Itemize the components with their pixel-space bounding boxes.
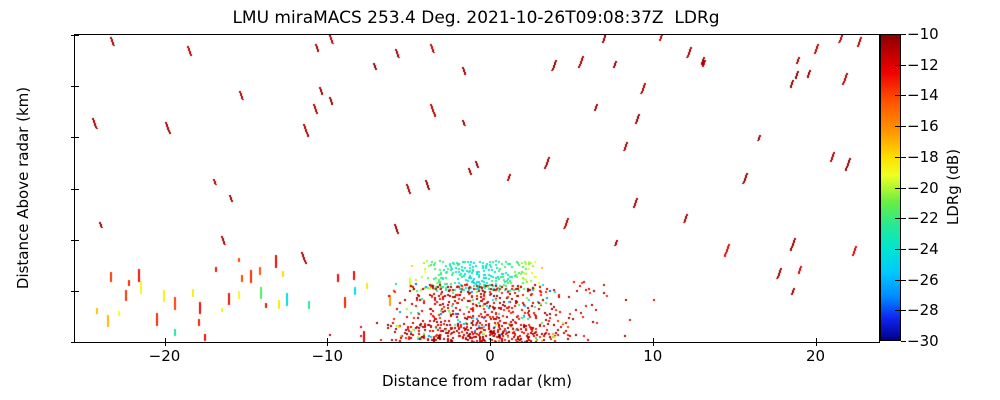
colorbar-tick-mark-inner: [895, 218, 900, 219]
colorbar-tick-mark-inner: [895, 188, 900, 189]
x-axis-label: Distance from radar (km): [382, 372, 572, 390]
y-tick-mark-inner: [75, 291, 79, 292]
x-tick-mark: [653, 342, 654, 346]
x-tick-mark: [327, 342, 328, 346]
x-tick-label: 0: [485, 347, 495, 365]
page-title: LMU miraMACS 253.4 Deg. 2021-10-26T09:08…: [74, 8, 878, 28]
colorbar-tick-mark-inner: [895, 280, 900, 281]
y-tick-mark-inner: [75, 86, 79, 87]
x-tick-mark-inner: [165, 338, 166, 342]
colorbar-tick-label: −30: [907, 332, 939, 350]
colorbar-tick-mark: [901, 126, 906, 127]
figure-canvas: LMU miraMACS 253.4 Deg. 2021-10-26T09:08…: [0, 0, 1000, 400]
colorbar-tick-mark-inner: [895, 157, 900, 158]
colorbar-tick-label: −26: [907, 271, 939, 289]
colorbar-tick-mark: [901, 65, 906, 66]
x-tick-mark: [816, 342, 817, 346]
colorbar-tick-mark: [901, 95, 906, 96]
colorbar-tick-label: −16: [907, 117, 939, 135]
colorbar: −10−12−14−16−18−20−22−24−26−28−30 LDRg (…: [880, 34, 901, 341]
x-tick-mark: [165, 342, 166, 346]
colorbar-tick-mark: [901, 310, 906, 311]
radar-scatter-data: [75, 35, 879, 342]
colorbar-tick-label: −10: [907, 25, 939, 43]
colorbar-tick-mark: [901, 249, 906, 250]
y-axis-label: Distance Above radar (km): [14, 87, 32, 289]
x-tick-mark-inner: [653, 338, 654, 342]
x-tick-mark: [490, 342, 491, 346]
colorbar-tick-mark-inner: [895, 95, 900, 96]
colorbar-tick-label: −22: [907, 209, 939, 227]
colorbar-tick-mark-inner: [895, 310, 900, 311]
colorbar-tick-label: −14: [907, 86, 939, 104]
colorbar-tick-mark: [901, 157, 906, 158]
x-tick-label: −10: [311, 347, 343, 365]
colorbar-tick-label: −12: [907, 56, 939, 74]
colorbar-tick-label: −18: [907, 148, 939, 166]
x-tick-label: 10: [643, 347, 662, 365]
colorbar-tick-label: −20: [907, 179, 939, 197]
x-tick-label: −20: [149, 347, 181, 365]
colorbar-tick-label: −24: [907, 240, 939, 258]
x-tick-mark-inner: [327, 338, 328, 342]
colorbar-label: LDRg (dB): [944, 149, 962, 225]
y-tick-mark-inner: [75, 189, 79, 190]
colorbar-tick-mark: [901, 34, 906, 35]
x-tick-label: 20: [806, 347, 825, 365]
colorbar-tick-mark-inner: [895, 249, 900, 250]
colorbar-tick-mark: [901, 341, 906, 342]
y-tick-mark-inner: [75, 240, 79, 241]
colorbar-tick-mark-inner: [895, 65, 900, 66]
colorbar-tick-mark: [901, 188, 906, 189]
colorbar-tick-label: −28: [907, 301, 939, 319]
colorbar-tick-mark: [901, 218, 906, 219]
y-tick-mark-inner: [75, 35, 79, 36]
y-tick-mark-inner: [75, 342, 79, 343]
x-tick-mark-inner: [490, 338, 491, 342]
y-tick-mark-inner: [75, 137, 79, 138]
plot-axes: 024681012 −20−1001020 Distance Above rad…: [74, 34, 880, 343]
colorbar-tick-mark-inner: [895, 126, 900, 127]
colorbar-tick-mark: [901, 280, 906, 281]
x-tick-mark-inner: [816, 338, 817, 342]
